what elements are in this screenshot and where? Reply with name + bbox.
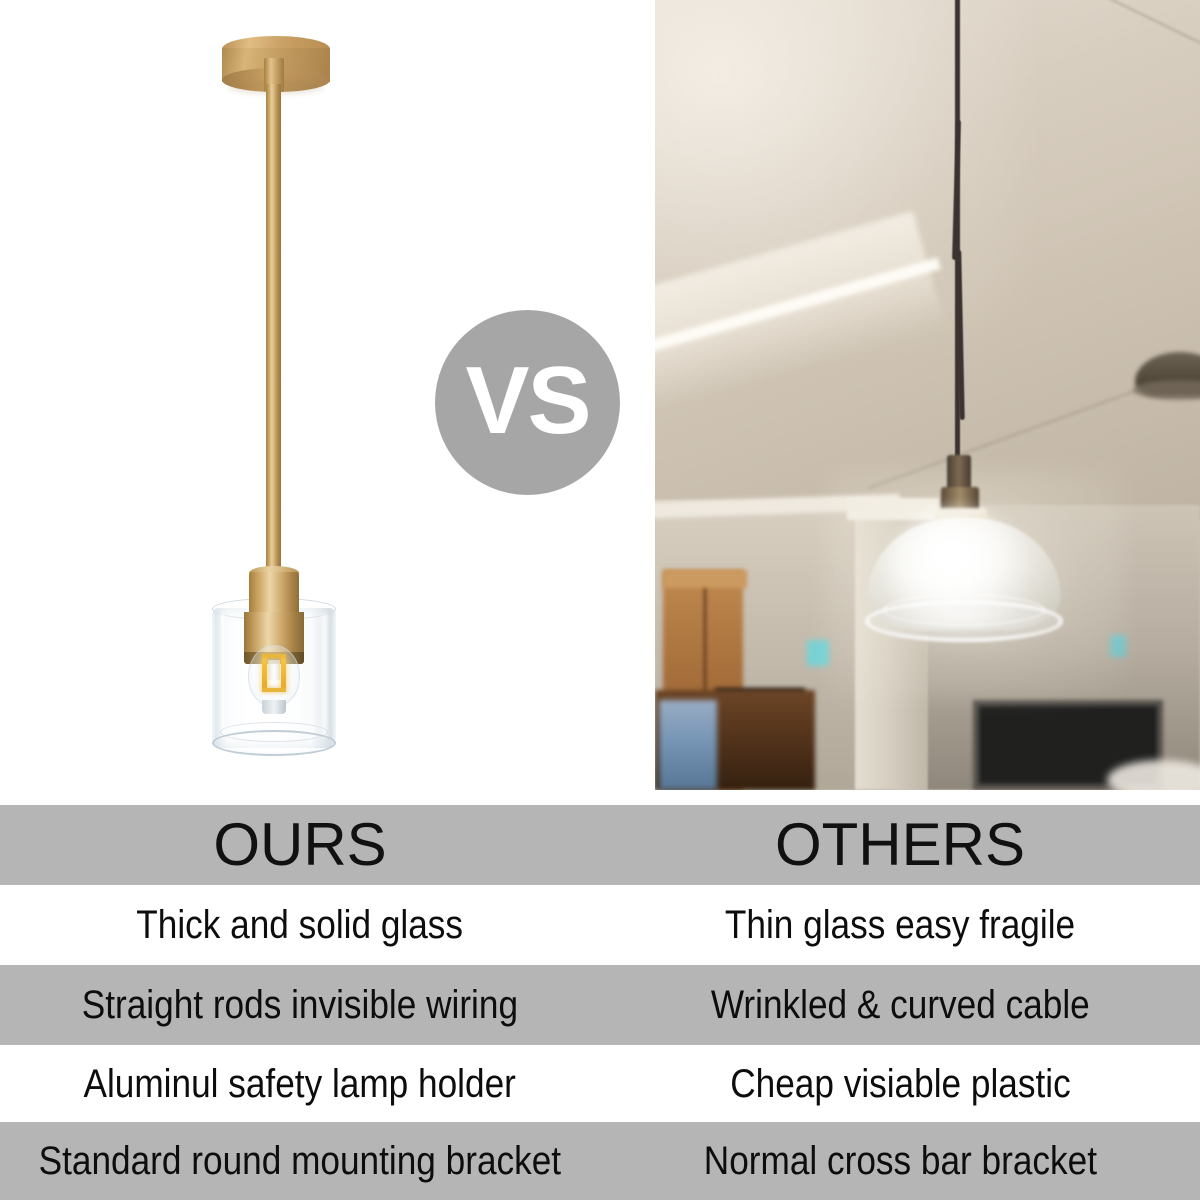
row-3-others-text: Cheap visiable plastic <box>730 1062 1070 1106</box>
row-1-cell-ours: Thick and solid glass <box>0 885 600 965</box>
table-row: Straight rods invisible wiring Wrinkled … <box>0 965 1200 1045</box>
glass-shade-bottom-rim <box>212 730 336 756</box>
header-cell-others: OTHERS <box>600 805 1200 885</box>
filament-bridge-bottom <box>262 688 286 692</box>
filament-right <box>281 658 286 690</box>
comparison-table: OURS OTHERS Thick and solid glass Thin g… <box>0 805 1200 1200</box>
row-4-cell-ours: Standard round mounting bracket <box>0 1122 600 1200</box>
table-header-row: OURS OTHERS <box>0 805 1200 885</box>
filament-left <box>262 658 267 690</box>
others-product-photo <box>655 0 1200 790</box>
wood-cabinet-trim <box>663 570 747 588</box>
row-1-ours-text: Thick and solid glass <box>137 903 464 947</box>
straight-rod-icon <box>266 84 281 580</box>
glass-highlight-right <box>318 614 327 738</box>
row-3-cell-ours: Aluminul safety lamp holder <box>0 1045 600 1122</box>
header-cell-ours: OURS <box>0 805 600 885</box>
table-row: Standard round mounting bracket Normal c… <box>0 1122 1200 1200</box>
row-2-ours-text: Straight rods invisible wiring <box>82 983 518 1027</box>
product-comparison-page: VS <box>0 0 1200 1200</box>
row-1-others-text: Thin glass easy fragile <box>725 903 1075 947</box>
others-column-header: OTHERS <box>775 815 1025 875</box>
row-1-cell-others: Thin glass easy fragile <box>600 885 1200 965</box>
lamp-glare <box>887 505 1027 635</box>
counter-bottles <box>659 700 717 790</box>
row-4-ours-text: Standard round mounting bracket <box>39 1139 561 1183</box>
comparison-photos-area: VS <box>0 0 1200 805</box>
table-row: Aluminul safety lamp holder Cheap visiab… <box>0 1045 1200 1122</box>
row-2-cell-others: Wrinkled & curved cable <box>600 965 1200 1045</box>
bulb-base <box>262 700 286 714</box>
table-row: Thick and solid glass Thin glass easy fr… <box>0 885 1200 965</box>
row-3-ours-text: Aluminul safety lamp holder <box>84 1062 516 1106</box>
row-3-cell-others: Cheap visiable plastic <box>600 1045 1200 1122</box>
row-2-others-text: Wrinkled & curved cable <box>711 983 1090 1027</box>
vs-badge: VS <box>435 310 620 495</box>
row-4-others-text: Normal cross bar bracket <box>703 1139 1096 1183</box>
row-4-cell-others: Normal cross bar bracket <box>600 1122 1200 1200</box>
row-2-cell-ours: Straight rods invisible wiring <box>0 965 600 1045</box>
glass-highlight-left <box>221 614 228 738</box>
vs-label: VS <box>465 353 589 449</box>
ours-column-header: OURS <box>213 815 386 875</box>
